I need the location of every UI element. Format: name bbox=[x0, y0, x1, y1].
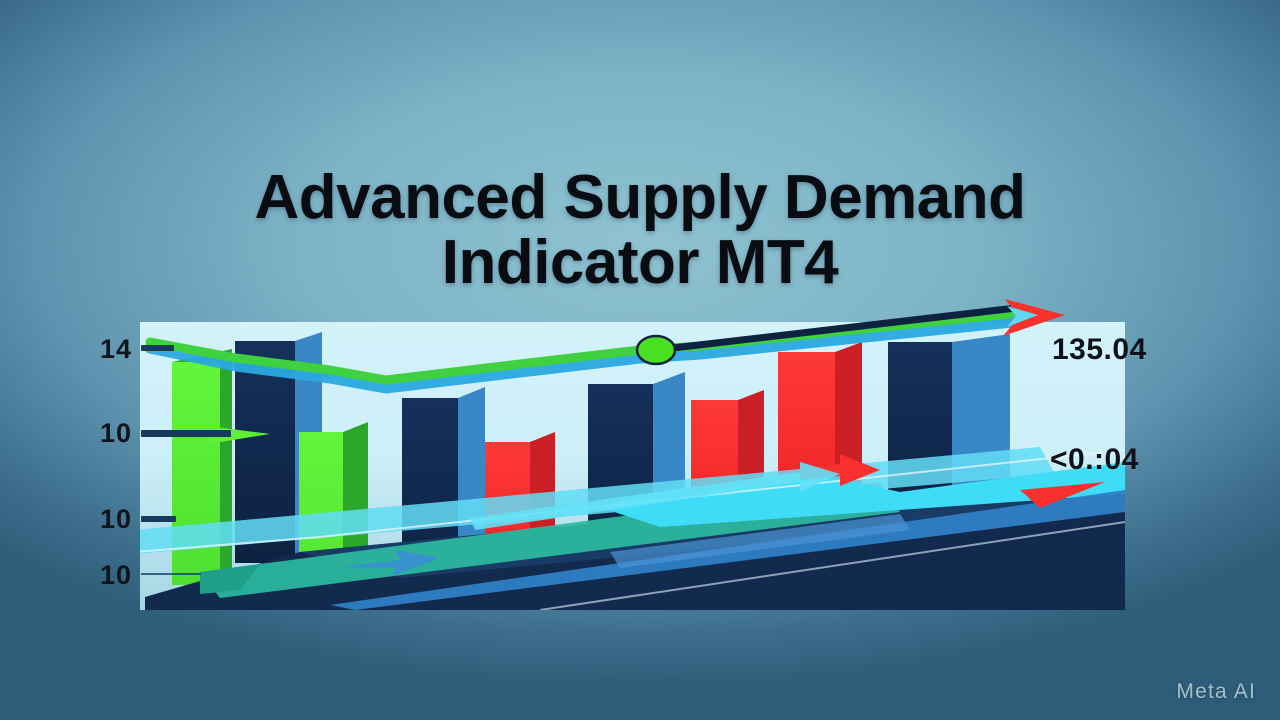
chart-canvas: Advanced Supply Demand Indicator MT4 bbox=[0, 0, 1280, 720]
trend-marker-dot bbox=[637, 336, 675, 364]
price-readout-top: 135.04 bbox=[1052, 333, 1147, 367]
watermark-meta-ai: Meta AI bbox=[1176, 680, 1256, 704]
price-readout-bottom: <0.:04 bbox=[1050, 443, 1139, 477]
